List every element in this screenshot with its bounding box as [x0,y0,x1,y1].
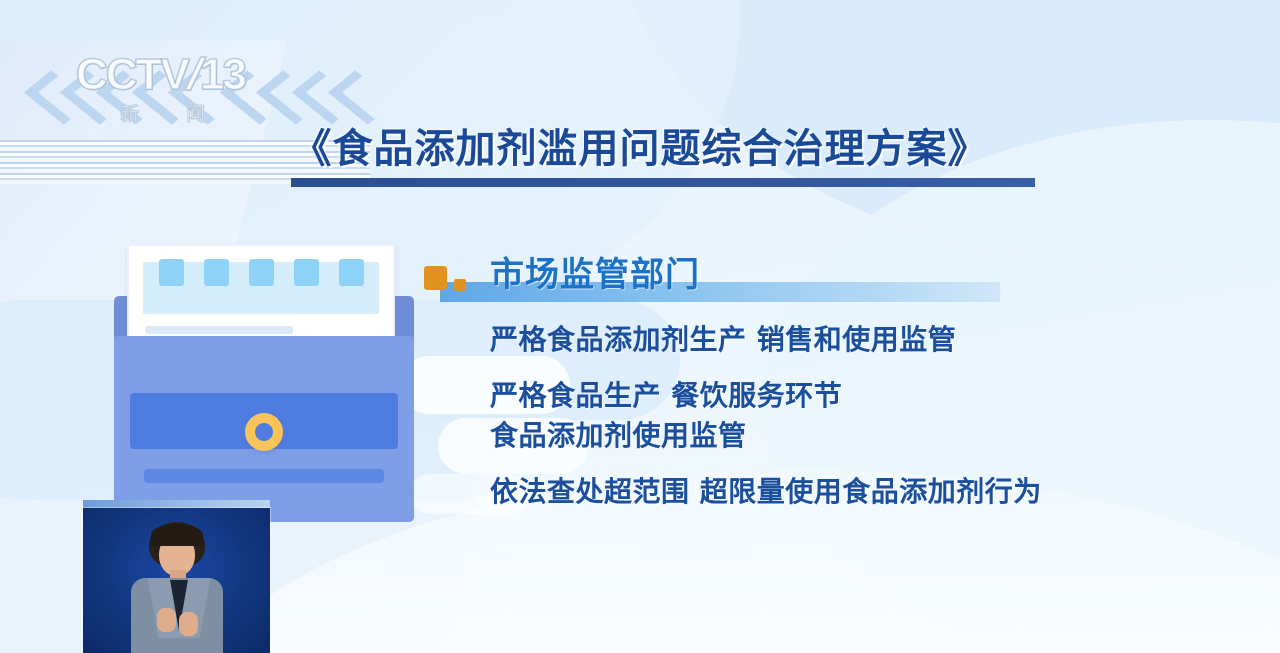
orange-square-bullet-large-icon [424,266,447,290]
list-item-line1: 严格食品生产 餐饮服务环节 [490,376,1214,416]
interpreter-hand-right [179,612,198,636]
content-column: 市场监管部门 严格食品添加剂生产 销售和使用监管 严格食品生产 餐饮服务环节 食… [424,252,1214,528]
document-folder-illustration [104,244,414,522]
chevron-left-icon [328,70,395,124]
document-square-1 [159,259,184,286]
list-item-line1: 依法查处超范围 超限量使用食品添加剂行为 [490,475,1042,508]
document-square-4 [294,259,319,286]
list-item-line2: 食品添加剂使用监管 [490,416,1214,456]
broadcast-slide: CCTV/13 新 闻 《食品添加剂滥用问题综合治理方案》 [0,0,1280,653]
section-item-list: 严格食品添加剂生产 销售和使用监管 严格食品生产 餐饮服务环节 食品添加剂使用监… [424,320,1214,512]
chevron-left-icon [292,70,359,124]
folder-bottom-strip [144,469,384,483]
interpreter-fringe [151,524,203,546]
page-title-text: 《食品添加剂滥用问题综合治理方案》 [292,124,989,174]
folder-front [114,336,414,522]
document-square-3 [249,259,274,286]
list-item: 依法查处超范围 超限量使用食品添加剂行为 [490,472,1214,512]
folder-clasp-icon [245,413,283,451]
document-square-5 [339,259,364,286]
interpreter-hand-left [157,608,176,632]
section-heading-row: 市场监管部门 [424,252,1214,304]
list-item: 严格食品添加剂生产 销售和使用监管 [490,320,1214,360]
section-heading-text: 市场监管部门 [490,252,700,298]
orange-square-bullet-small-icon [454,279,466,291]
sign-language-interpreter-inset [83,508,270,653]
interpreter-inset-top-strip [83,500,270,508]
document-sheet [127,244,395,346]
title-underline [291,178,1035,187]
folder-clasp-center [255,423,273,441]
page-title: 《食品添加剂滥用问题综合治理方案》 [0,124,1280,174]
cctv-13-news-logo: CCTV/13 新 闻 [76,52,266,128]
channel-sub-text: 新 闻 [120,99,266,126]
document-text-line [145,326,293,334]
list-item: 严格食品生产 餐饮服务环节 食品添加剂使用监管 [490,376,1214,456]
channel-logo-text: CCTV/13 [76,52,266,98]
document-square-2 [204,259,229,286]
list-item-line1: 严格食品添加剂生产 销售和使用监管 [490,323,956,356]
